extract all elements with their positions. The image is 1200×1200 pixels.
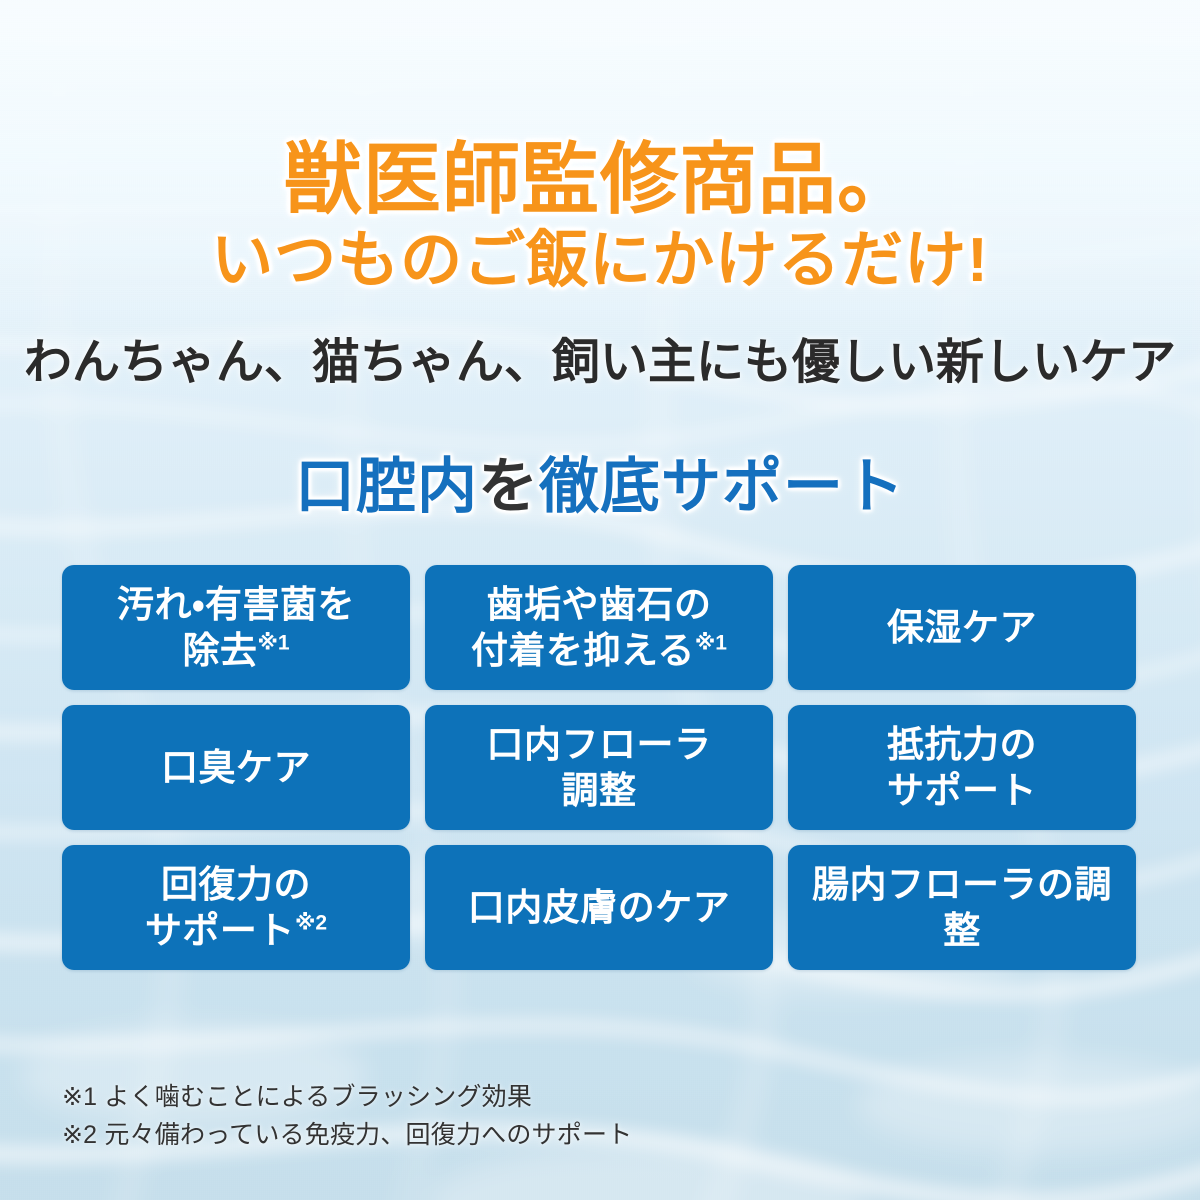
benefit-card-line-2: 除去 xyxy=(182,630,257,671)
benefit-card: 口内皮膚のケア xyxy=(425,845,773,970)
benefit-card-note: ※1 xyxy=(257,631,289,654)
benefit-card-line-1: 口内フローラ xyxy=(487,724,712,765)
benefit-card-line-2: サポート xyxy=(887,770,1037,811)
benefit-card-line-1: 抵抗力の xyxy=(887,724,1037,765)
benefit-card-line-2: 調整 xyxy=(562,770,637,811)
section-heading: 口腔内を徹底サポート xyxy=(0,455,1200,518)
benefit-card: 口内フローラ調整 xyxy=(425,705,773,830)
benefit-card-label: 口内フローラ調整 xyxy=(479,722,720,812)
benefit-card-label: 汚れ・有害菌を除去※1 xyxy=(109,582,363,672)
benefit-card-line-2: サポート xyxy=(145,910,295,951)
headline-block: 獣医師監修商品。 いつものご飯にかけるだけ! xyxy=(0,140,1200,292)
benefit-card-line-1: 口内皮膚のケア xyxy=(468,887,731,928)
benefit-card-line-1: 腸内フローラの調整 xyxy=(812,864,1112,950)
benefit-card-line-2: 付着を抑える xyxy=(471,630,695,671)
benefit-card: 腸内フローラの調整 xyxy=(788,845,1136,970)
footnotes: ※1 よく噛むことによるブラッシング効果 ※2 元々備わっている免疫力、回復力へ… xyxy=(62,1078,962,1154)
section-heading-particle: を xyxy=(478,453,539,520)
footnote-1: ※1 よく噛むことによるブラッシング効果 xyxy=(62,1078,962,1116)
benefit-card-line-1: 保湿ケア xyxy=(887,607,1037,648)
headline-line-2: いつものご飯にかけるだけ! xyxy=(0,230,1200,292)
benefit-card-label: 抵抗力のサポート xyxy=(879,722,1045,812)
subheadline: わんちゃん、猫ちゃん、飼い主にも優しい新しいケア xyxy=(0,338,1200,388)
benefit-card-label: 回復力のサポート※2 xyxy=(137,862,335,952)
benefit-card-label: 腸内フローラの調整 xyxy=(788,862,1136,952)
benefit-card-line-1: 回復力の xyxy=(161,864,311,905)
benefit-card-note: ※2 xyxy=(295,911,327,934)
benefit-card-label: 保湿ケア xyxy=(879,605,1045,650)
benefit-card: 歯垢や歯石の付着を抑える※1 xyxy=(425,565,773,690)
benefit-card-label: 歯垢や歯石の付着を抑える※1 xyxy=(463,582,735,672)
benefit-card: 抵抗力のサポート xyxy=(788,705,1136,830)
benefit-card-grid: 汚れ・有害菌を除去※1 歯垢や歯石の付着を抑える※1 保湿ケア 口臭ケア 口内フ… xyxy=(62,565,1137,970)
benefit-card-line-1: 汚れ・有害菌を xyxy=(117,584,355,625)
section-heading-part2: 徹底サポート xyxy=(539,453,905,520)
benefit-card: 口臭ケア xyxy=(62,705,410,830)
benefit-card-note: ※1 xyxy=(695,631,727,654)
footnote-2: ※2 元々備わっている免疫力、回復力へのサポート xyxy=(62,1116,962,1154)
benefit-card: 保湿ケア xyxy=(788,565,1136,690)
benefit-card-label: 口臭ケア xyxy=(153,745,319,790)
benefit-card: 回復力のサポート※2 xyxy=(62,845,410,970)
benefit-card: 汚れ・有害菌を除去※1 xyxy=(62,565,410,690)
promo-banner: 獣医師監修商品。 いつものご飯にかけるだけ! わんちゃん、猫ちゃん、飼い主にも優… xyxy=(0,0,1200,1200)
headline-line-1: 獣医師監修商品。 xyxy=(0,140,1200,218)
benefit-card-label: 口内皮膚のケア xyxy=(460,885,739,930)
benefit-card-line-1: 歯垢や歯石の xyxy=(487,584,712,625)
section-heading-part1: 口腔内 xyxy=(295,453,478,520)
benefit-card-line-1: 口臭ケア xyxy=(161,747,311,788)
